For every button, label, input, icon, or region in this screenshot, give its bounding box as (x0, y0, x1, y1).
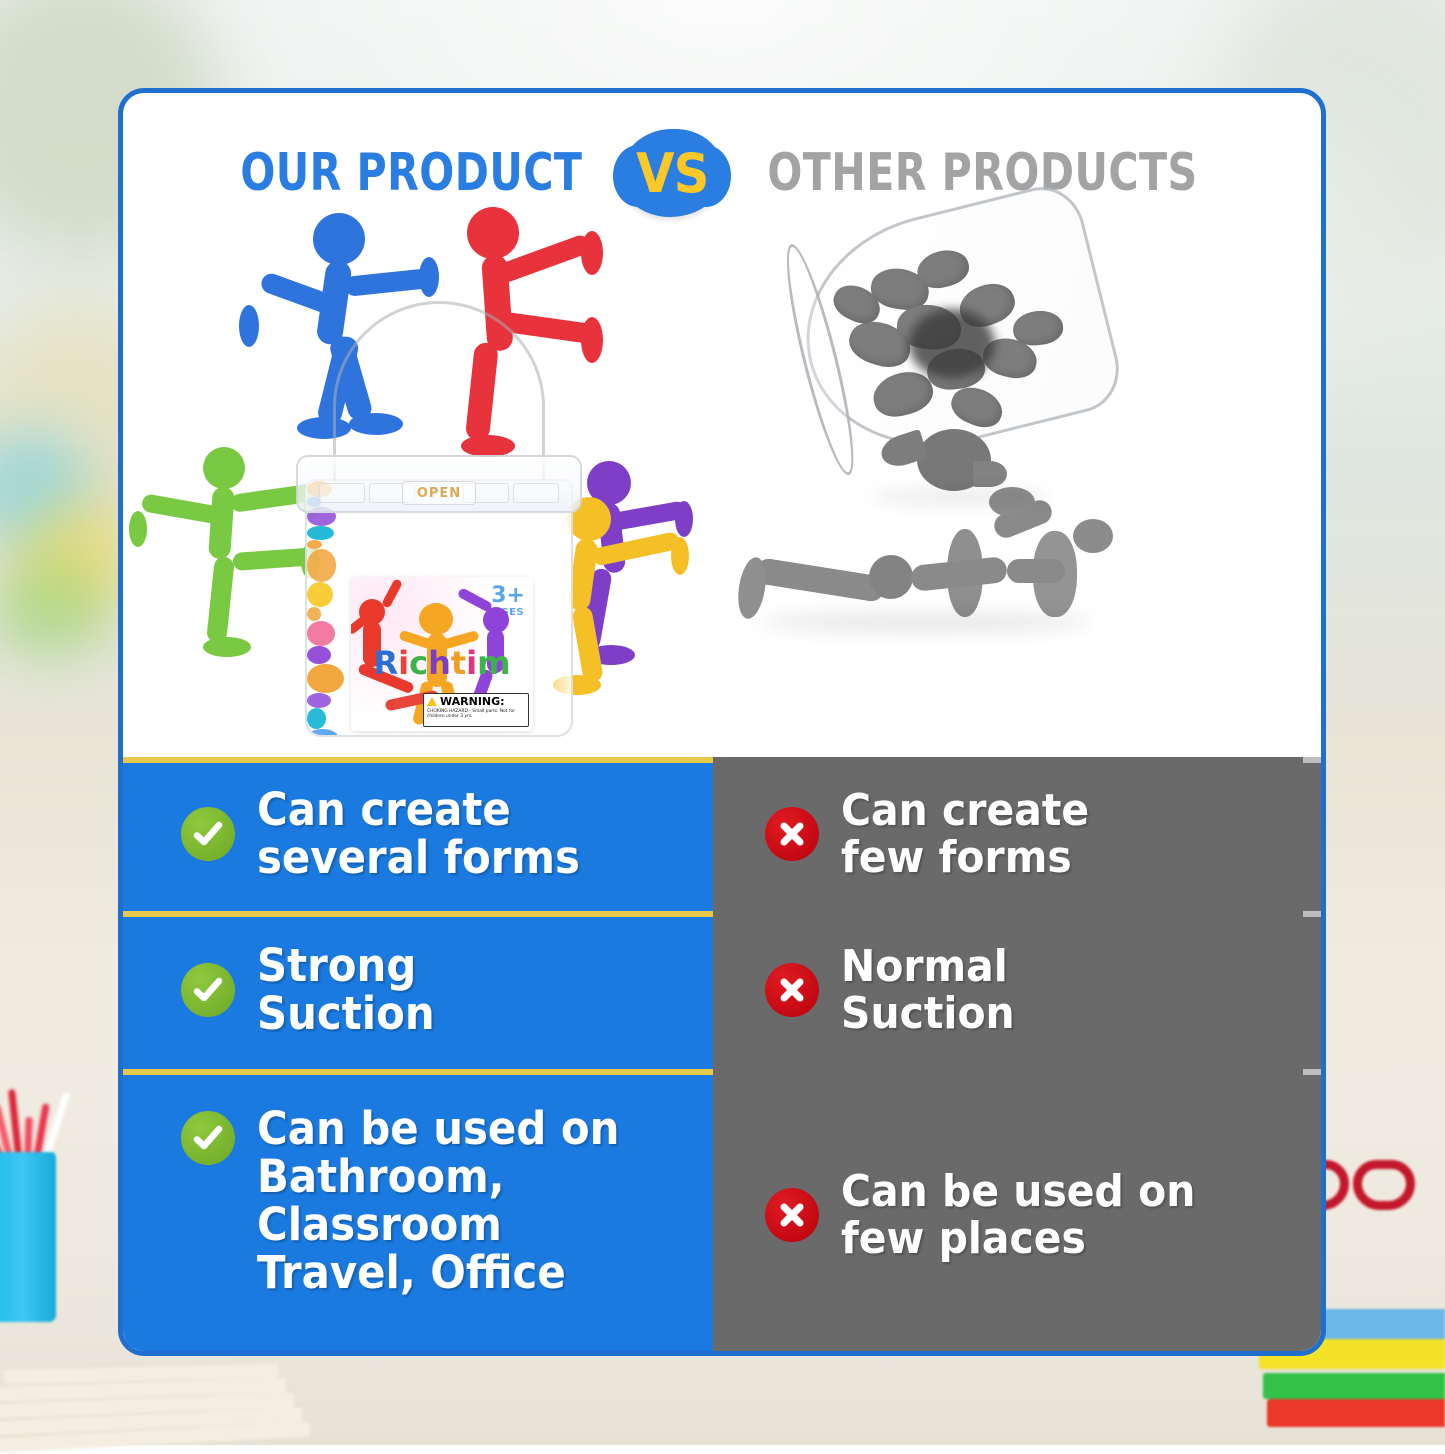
cell-text: Strong Suction (257, 942, 435, 1038)
brand-letter: i (466, 647, 477, 679)
check-icon (181, 963, 235, 1017)
bucket-open-tab[interactable]: OPEN (402, 481, 476, 505)
bucket-toy-piece (307, 607, 321, 621)
brand-letter: m (477, 647, 510, 679)
bucket-toy-piece (307, 693, 331, 708)
warning-title: WARNING: (440, 696, 505, 707)
competitor-shadow (871, 489, 1051, 505)
cell-text: Can be used on few places (841, 1168, 1195, 1262)
product-bucket: OPEN 3+ AGES Richtim WARNING: (305, 437, 573, 737)
figure-head (313, 213, 365, 265)
cell-text: Normal Suction (841, 943, 1015, 1037)
cell-other-products: Can be used on few places (713, 1069, 1321, 1356)
bucket-toy-piece (307, 708, 326, 729)
cell-other-products: Normal Suction (713, 911, 1321, 1069)
figure-suction-cup (239, 305, 259, 347)
product-label: 3+ AGES Richtim WARNING: CHOKING HAZARD … (351, 577, 533, 731)
competitor-suction-stem (754, 557, 886, 603)
comparison-card: OUR PRODUCT VS OTHER PRODUCTS (118, 88, 1326, 1356)
figure-suction-cup (671, 537, 689, 575)
vs-badge-label: VS (636, 142, 708, 205)
cross-icon (765, 807, 819, 861)
vs-badge: VS (620, 129, 724, 217)
warning-title-row: WARNING: (427, 696, 525, 707)
background-book (1267, 1399, 1445, 1427)
figure-suction-cup (203, 637, 251, 657)
jar-interior-shadow (909, 309, 995, 379)
competitor-toy-piece (973, 461, 1007, 487)
bucket-toy-piece (307, 540, 322, 549)
row-divider-gray (1303, 1069, 1321, 1075)
cross-icon (765, 963, 819, 1017)
brand-letter: h (428, 647, 451, 679)
figure-suction-cup (581, 317, 603, 363)
brand-letter: i (398, 647, 409, 679)
cell-other-products: Can create few forms (713, 757, 1321, 911)
table-row: Can be used on Bathroom, Classroom Trave… (123, 1069, 1321, 1356)
figure-leg (571, 605, 604, 683)
row-divider-gold (123, 1069, 713, 1075)
competitor-suction-stem (910, 556, 1008, 592)
figure-head (203, 447, 245, 489)
figure-suction-cup (581, 231, 603, 275)
cell-text: Can create several forms (257, 786, 580, 882)
cell-our-product: Can create several forms (123, 757, 713, 911)
brand-letter: R (374, 647, 399, 679)
competitor-toys (721, 189, 1321, 757)
competitor-suction-stem (1007, 559, 1065, 583)
row-divider-gray (1303, 757, 1321, 763)
check-icon (181, 1111, 235, 1165)
label-figure-head (419, 603, 453, 635)
competitor-suction-cup (1073, 519, 1113, 553)
table-row: Strong Suction Normal Suction (123, 911, 1321, 1069)
row-divider-gold (123, 757, 713, 763)
warning-body: CHOKING HAZARD - Small parts. Not for ch… (427, 709, 525, 721)
figure-arm (141, 493, 223, 525)
bucket-toy-piece (307, 549, 336, 581)
background-book (1263, 1373, 1445, 1399)
competitor-toy-joint (869, 555, 913, 599)
cell-our-product: Can be used on Bathroom, Classroom Trave… (123, 1069, 713, 1356)
bucket-toy-piece (307, 621, 335, 646)
competitor-toy-piece (1011, 308, 1064, 347)
label-figure-arm (457, 587, 493, 613)
cell-our-product: Strong Suction (123, 911, 713, 1069)
lid-rail (319, 483, 365, 503)
cell-text: Can be used on Bathroom, Classroom Trave… (257, 1105, 619, 1298)
warning-box: WARNING: CHOKING HAZARD - Small parts. N… (423, 693, 529, 727)
label-figure-arm (381, 578, 403, 609)
bucket-toy-piece (307, 729, 338, 737)
cross-icon (765, 1188, 819, 1242)
brand-logo: Richtim (363, 647, 521, 679)
bucket-toy-piece (307, 646, 331, 664)
bucket-toy-piece (307, 664, 344, 693)
cell-text: Can create few forms (841, 787, 1089, 881)
bucket-open-label: OPEN (417, 486, 461, 501)
background-pencil-cup (0, 1152, 56, 1322)
our-product-photo: OPEN 3+ AGES Richtim WARNING: (123, 189, 713, 757)
bucket-toy-piece (307, 582, 333, 607)
row-divider-gold (123, 911, 713, 917)
background-toy-blur (0, 560, 110, 660)
table-row: Can create several forms Can create few … (123, 757, 1321, 911)
comparison-table: Can create several forms Can create few … (123, 757, 1321, 1356)
figure-arm (591, 531, 681, 567)
check-icon (181, 807, 235, 861)
figure-suction-cup (129, 511, 147, 547)
lid-rail (513, 483, 559, 503)
brand-letter: c (409, 647, 428, 679)
figure-leg (206, 556, 235, 644)
bucket-toy-piece (307, 526, 334, 540)
warning-triangle-icon (427, 697, 437, 706)
brand-letter: t (451, 647, 466, 679)
other-products-photo (721, 189, 1321, 757)
product-showcase: OPEN 3+ AGES Richtim WARNING: (123, 189, 1321, 757)
row-divider-gray (1303, 911, 1321, 917)
figure-head (467, 207, 519, 259)
competitor-shadow (761, 613, 1091, 631)
